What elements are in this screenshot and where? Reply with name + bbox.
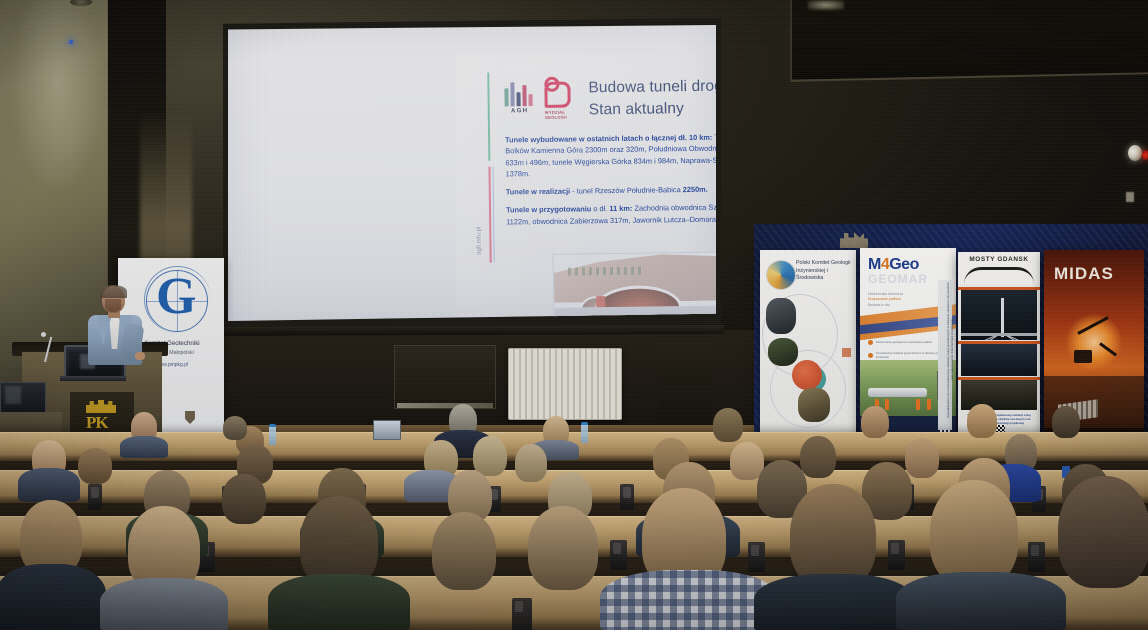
wall-blind-panel [394, 345, 496, 409]
slide-lead-planned: Tunele w przygotowaniu [506, 205, 591, 215]
mosty-photo-night-bridge [961, 344, 1037, 376]
presenter-laptop-base [60, 376, 126, 381]
wall-panel-glint [808, 0, 844, 10]
audience-head [861, 406, 889, 438]
pkgiis-accent-square [842, 348, 851, 357]
audience-seating [0, 418, 1148, 630]
wydzial-geologii-logo: WYDZIAŁGEOLOGII [544, 81, 578, 115]
red-indicator-light [1142, 150, 1148, 160]
projection-screen: AGH WYDZIAŁGEOLOGII Budowa tuneli drogow… [228, 25, 716, 321]
wydzial-geologii-sublabel: WYDZIAŁGEOLOGII [545, 109, 579, 119]
audience-head [222, 474, 266, 524]
conference-photo-scene: AGH WYDZIAŁGEOLOGII Budowa tuneli drogow… [0, 0, 1148, 630]
presenter-hand [135, 352, 145, 360]
pkgiis-badge-orange [792, 360, 822, 390]
banner-mosty-title: MOSTY GDANSK [962, 256, 1036, 263]
slide-tail-inprogress: 2250m. [683, 185, 708, 194]
agh-logo-label: AGH [505, 108, 535, 114]
slide-lead-built: Tunele wybudowane w ostatnich latach o ł… [505, 133, 712, 145]
presenter [88, 286, 142, 364]
list-item: Kompleksowe badania geotechniczne w zakr… [868, 352, 948, 359]
agh-logo: AGH [504, 82, 534, 116]
audience-head [473, 436, 507, 476]
audience-head [1052, 406, 1080, 438]
slide-rule-blue [492, 167, 494, 263]
crest-crown [86, 400, 116, 413]
list-item: Rozpoznanie geologiczno-inżynierskie pod… [868, 340, 948, 345]
globe-logo-arc [144, 266, 211, 333]
bridge-arch-icon [964, 267, 1034, 284]
banner-pkgiis: Polski Komitet Geologii Inżynierskiej i … [760, 250, 856, 436]
agh-logo-bars [504, 82, 534, 106]
pkgiis-emblem [766, 260, 796, 290]
audience-head [790, 484, 876, 588]
banner-pkgiis-title: Polski Komitet Geologii Inżynierskiej i … [796, 260, 852, 283]
audience-head [1058, 476, 1148, 588]
wydzial-geologii-mark [544, 82, 570, 108]
banner-side-label: Specjalizujemy się w kompleksowej realiz… [938, 280, 952, 430]
slide-mid-planned: 11 km: [609, 204, 632, 213]
audience-head [713, 408, 743, 442]
audience-head [223, 416, 247, 440]
audience-checked-shirt [600, 570, 778, 630]
midas-excavator [1074, 332, 1124, 382]
audience-head [930, 480, 1018, 586]
blue-indicator-led [69, 40, 73, 44]
audience-head [528, 506, 598, 590]
slide-text-inprogress: - tunel Rzeszów Południe-Babica [570, 185, 683, 195]
audience-head [432, 512, 496, 590]
slide-vertical-url: agh.edu.pl [476, 227, 482, 255]
slide-lead-inprogress: Tunele w realizacji [506, 187, 570, 197]
crown-emblem [840, 232, 868, 248]
mosty-photo-cable-bridge [961, 290, 1037, 340]
pkgiis-photo-field [768, 338, 798, 366]
slide-rule-pink [488, 167, 491, 263]
podium-microphone-head [41, 332, 46, 337]
m4geo-photo-train [868, 388, 928, 397]
dark-wall-panel [790, 0, 1148, 82]
slide-rule-green [487, 73, 490, 161]
audience-head [78, 448, 112, 484]
presenter-hair [100, 285, 127, 298]
audience-head [515, 444, 547, 482]
wall-light-lower [1126, 192, 1134, 202]
audience-head [967, 404, 997, 438]
wall-side-panel [660, 342, 712, 420]
audience-laptop [373, 420, 401, 440]
pkgiis-photo-worker [798, 388, 830, 422]
m4geo-sublogo: GEOMAR [868, 272, 928, 286]
wall-radiator [508, 348, 622, 420]
pkgiis-photo-drill [766, 298, 796, 334]
audience-head [905, 438, 939, 478]
emergency-exit-light [1128, 145, 1142, 161]
audience-head [800, 436, 836, 478]
banner-midas-logo: MIDAS [1054, 264, 1114, 284]
slide-text-planned-a: o dł. [591, 204, 609, 213]
mosty-photo-construction [961, 380, 1037, 410]
